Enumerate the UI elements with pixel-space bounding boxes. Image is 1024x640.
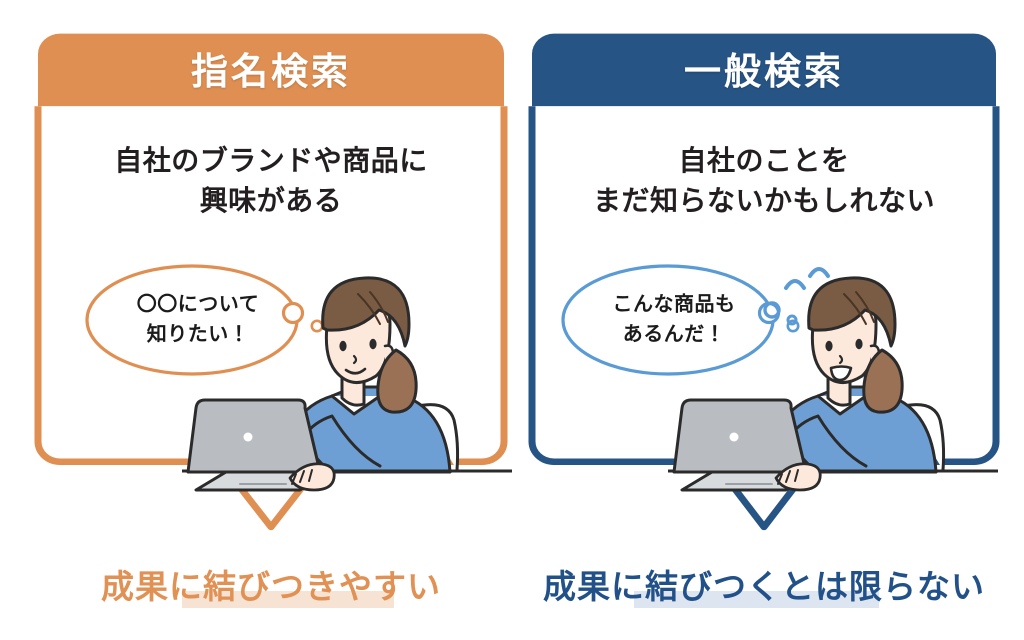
eye-right bbox=[369, 339, 376, 349]
panel-designated-search: 指名検索 自社のブランドや商品に 興味がある 〇〇について 知りたい！ bbox=[34, 30, 508, 504]
panel-header-general: 一般検索 bbox=[528, 30, 1000, 113]
caption-label: 成果に結びつきやすい bbox=[101, 570, 441, 603]
panel-body-general: 自社のことを まだ知らないかもしれない こんな商品も あるんだ！ bbox=[528, 113, 1000, 504]
eye-right bbox=[855, 339, 862, 349]
laptop-logo bbox=[244, 433, 253, 442]
laptop-screen bbox=[674, 400, 806, 472]
panel-lead-text: 自社のことを まだ知らないかもしれない bbox=[528, 141, 1000, 221]
infographic-canvas: 指名検索 自社のブランドや商品に 興味がある 〇〇について 知りたい！ bbox=[0, 0, 1024, 640]
laptop-screen bbox=[188, 400, 320, 472]
eye-left bbox=[339, 341, 346, 351]
panel-header-label: 指名検索 bbox=[191, 53, 351, 90]
panel-header-label: 一般検索 bbox=[684, 53, 844, 90]
caption-label: 成果に結びつくとは限らない bbox=[543, 570, 985, 603]
illustration-woman-at-laptop-right bbox=[668, 258, 998, 504]
caption-general-search: 成果に結びつくとは限らない bbox=[528, 562, 1000, 610]
woman-at-laptop-figure bbox=[668, 258, 998, 504]
eye-left bbox=[825, 341, 832, 351]
panel-general-search: 一般検索 自社のことを まだ知らないかもしれない こんな商品も あるんだ！ bbox=[528, 30, 1000, 504]
panel-body-designated: 自社のブランドや商品に 興味がある 〇〇について 知りたい！ bbox=[34, 113, 508, 504]
panel-lead-text: 自社のブランドや商品に 興味がある bbox=[34, 141, 508, 221]
caption-designated-search: 成果に結びつきやすい bbox=[34, 562, 508, 610]
woman-at-laptop-figure bbox=[182, 258, 512, 504]
panel-header-designated: 指名検索 bbox=[34, 30, 508, 113]
illustration-woman-at-laptop-left bbox=[182, 258, 512, 504]
laptop-logo bbox=[730, 433, 739, 442]
